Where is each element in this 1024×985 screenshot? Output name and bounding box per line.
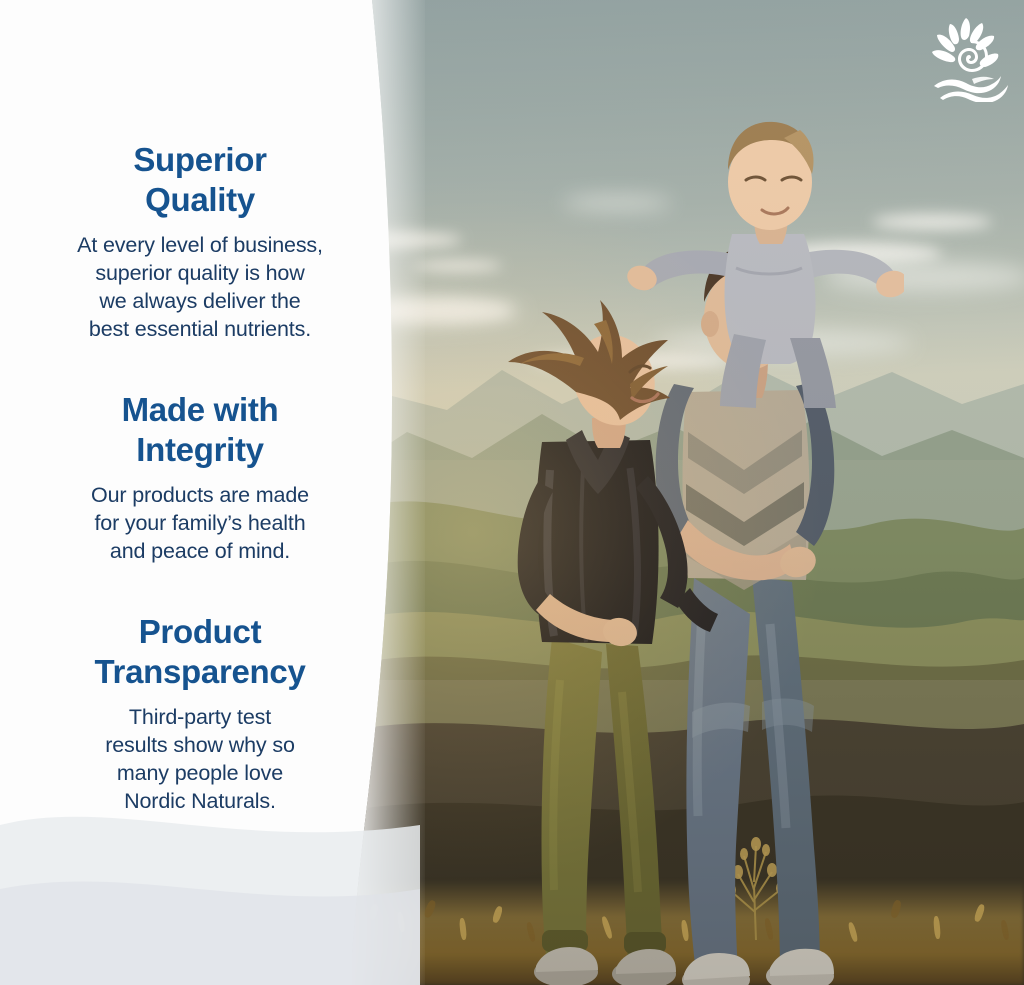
feature-heading: Product Transparency	[28, 612, 372, 693]
feature-heading: Superior Quality	[28, 140, 372, 221]
photo-tone	[352, 0, 1024, 985]
feature-block-made-with-integrity: Made with Integrity Our products are mad…	[0, 390, 400, 565]
feature-block-superior-quality: Superior Quality At every level of busin…	[0, 140, 400, 343]
panel-text-content: Superior Quality At every level of busin…	[0, 0, 400, 985]
sun-wave-logo	[928, 16, 1010, 102]
feature-body: Third-party test results show why so man…	[28, 703, 372, 816]
feature-heading: Made with Integrity	[28, 390, 372, 471]
feature-body: Our products are made for your family’s …	[28, 481, 372, 565]
feature-body: At every level of business, superior qua…	[28, 231, 372, 344]
lifestyle-photo	[352, 0, 1024, 985]
feature-block-product-transparency: Product Transparency Third-party test re…	[0, 612, 400, 815]
promo-graphic: Superior Quality At every level of busin…	[0, 0, 1024, 985]
